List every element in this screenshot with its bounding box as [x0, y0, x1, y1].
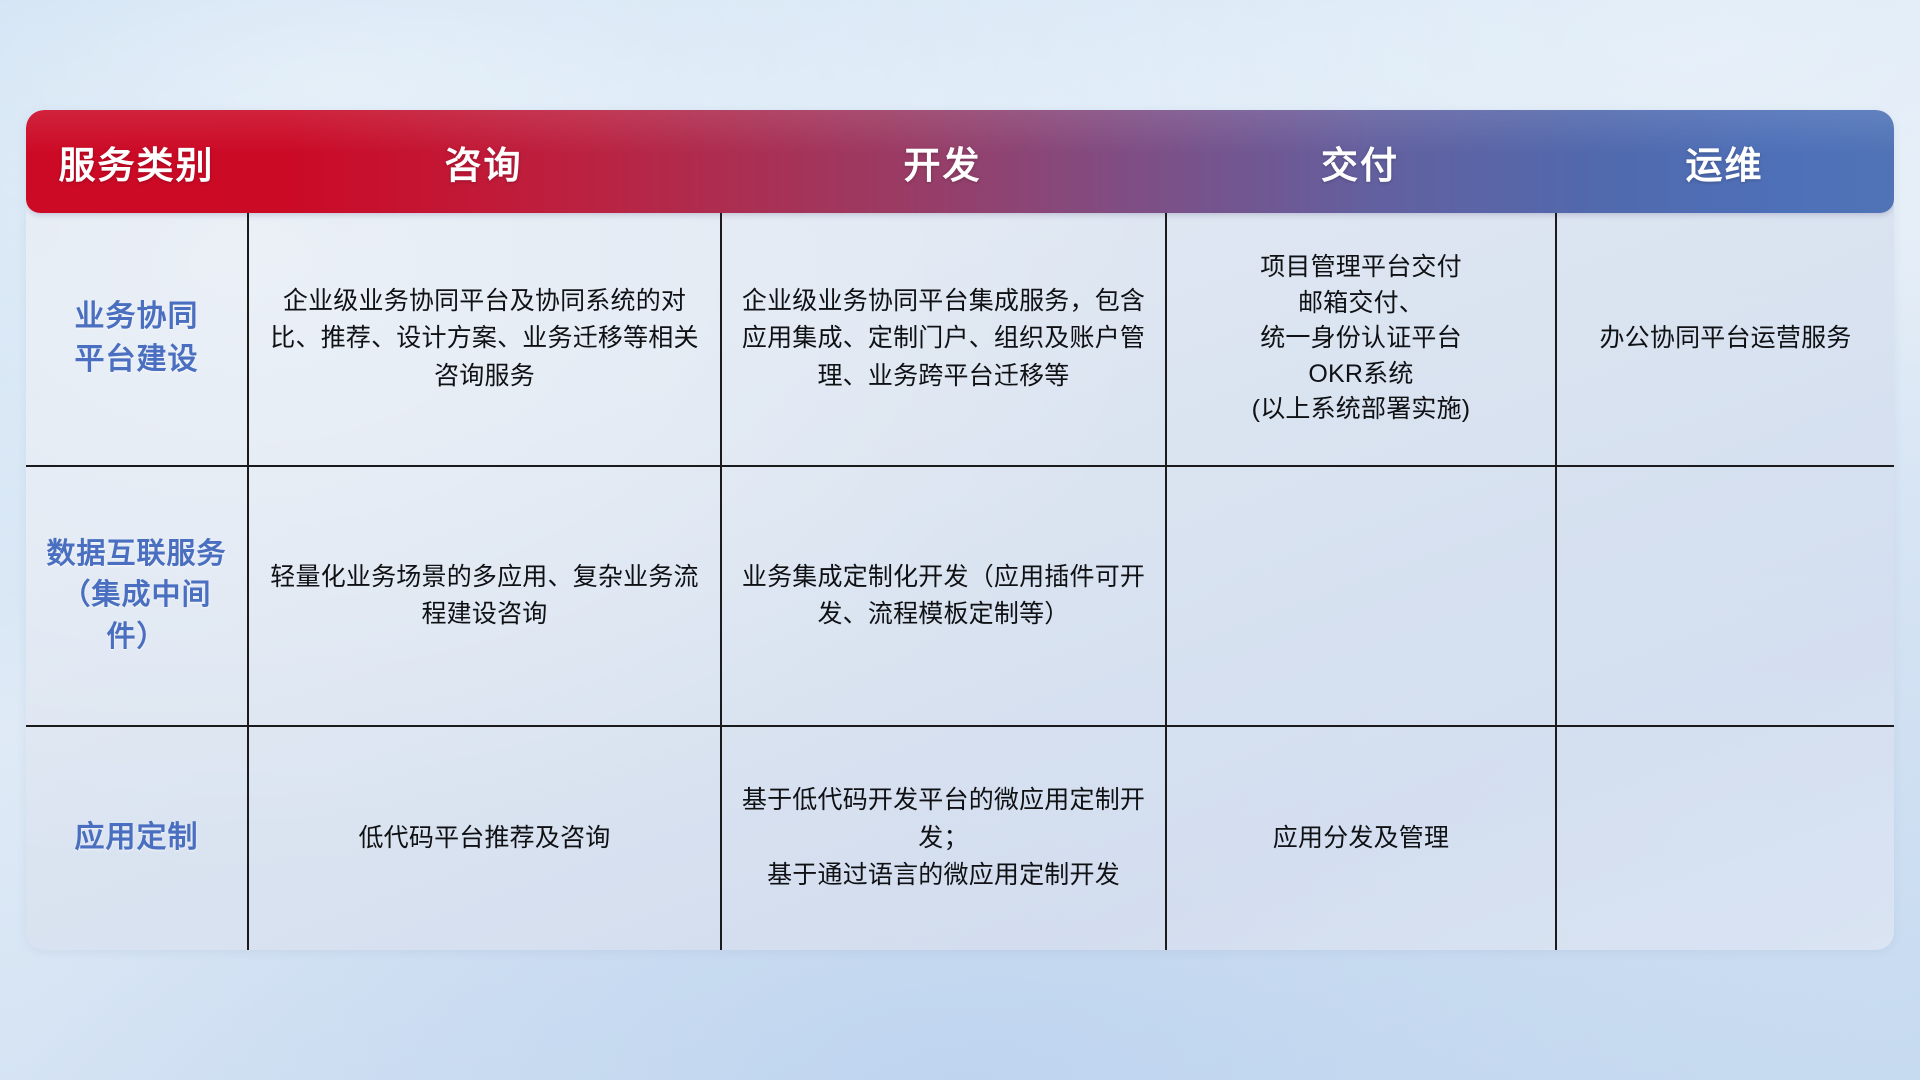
cell-delivery-2 [1165, 465, 1555, 725]
cell-text: 业务集成定制化开发（应用插件可开发、流程模板定制等） [736, 559, 1151, 634]
table-body: 业务协同 平台建设 企业级业务协同平台及协同系统的对比、推荐、设计方案、业务迁移… [26, 213, 1894, 950]
cell-text-line: OKR系统 [1252, 357, 1471, 393]
service-category-table: 服务类别 咨询 开发 交付 运维 业务协同 平台建设 企业级业务协同平台及协同系… [26, 110, 1894, 950]
column-header-category: 服务类别 [26, 110, 247, 213]
row-category-line: 平台建设 [75, 339, 199, 382]
row-category-label-3: 应用定制 [75, 817, 199, 860]
cell-development-2: 业务集成定制化开发（应用插件可开发、流程模板定制等） [720, 465, 1165, 725]
row-category-line: 应用定制 [75, 817, 199, 860]
column-header-operations: 运维 [1555, 110, 1894, 213]
cell-development-1: 企业级业务协同平台集成服务，包含应用集成、定制门户、组织及账户管理、业务跨平台迁… [720, 213, 1165, 465]
cell-consulting-1: 企业级业务协同平台及协同系统的对比、推荐、设计方案、业务迁移等相关咨询服务 [247, 213, 720, 465]
cell-operations-1: 办公协同平台运营服务 [1555, 213, 1894, 465]
cell-text: 基于低代码开发平台的微应用定制开发； 基于通过语言的微应用定制开发 [736, 782, 1151, 895]
cell-text: 应用分发及管理 [1273, 820, 1449, 858]
cell-text-line: 基于通过语言的微应用定制开发 [736, 857, 1151, 895]
column-header-consulting: 咨询 [247, 110, 720, 213]
cell-text: 企业级业务协同平台集成服务，包含应用集成、定制门户、组织及账户管理、业务跨平台迁… [736, 283, 1151, 396]
table-card: 服务类别 咨询 开发 交付 运维 业务协同 平台建设 企业级业务协同平台及协同系… [26, 110, 1894, 950]
table-row: 业务协同 平台建设 [26, 213, 247, 465]
cell-text: 企业级业务协同平台及协同系统的对比、推荐、设计方案、业务迁移等相关咨询服务 [263, 283, 706, 396]
cell-delivery-1: 项目管理平台交付 邮箱交付、 统一身份认证平台 OKR系统 (以上系统部署实施) [1165, 213, 1555, 465]
cell-development-3: 基于低代码开发平台的微应用定制开发； 基于通过语言的微应用定制开发 [720, 725, 1165, 950]
column-header-development: 开发 [720, 110, 1165, 213]
cell-text: 低代码平台推荐及咨询 [358, 820, 610, 858]
cell-text: 办公协同平台运营服务 [1599, 320, 1851, 358]
column-header-delivery: 交付 [1165, 110, 1555, 213]
cell-delivery-3: 应用分发及管理 [1165, 725, 1555, 950]
cell-text-line: 基于低代码开发平台的微应用定制开发； [736, 782, 1151, 857]
table-header-row: 服务类别 咨询 开发 交付 运维 [26, 110, 1894, 213]
table-row: 数据互联服务 （集成中间件） [26, 465, 247, 725]
row-category-label-1: 业务协同 平台建设 [75, 296, 199, 381]
cell-text-line: 统一身份认证平台 [1252, 321, 1471, 357]
row-category-line: 数据互联服务 [40, 534, 233, 575]
cell-text-line: 邮箱交付、 [1252, 286, 1471, 322]
table-row: 应用定制 [26, 725, 247, 950]
row-category-label-2: 数据互联服务 （集成中间件） [40, 534, 233, 658]
cell-text: 项目管理平台交付 邮箱交付、 统一身份认证平台 OKR系统 (以上系统部署实施) [1252, 250, 1471, 428]
cell-text: 轻量化业务场景的多应用、复杂业务流程建设咨询 [263, 559, 706, 634]
cell-text-line: 项目管理平台交付 [1252, 250, 1471, 286]
cell-operations-2 [1555, 465, 1894, 725]
cell-operations-3 [1555, 725, 1894, 950]
row-category-line: （集成中间件） [40, 575, 233, 657]
cell-text-line: (以上系统部署实施) [1252, 392, 1471, 428]
row-category-line: 业务协同 [75, 296, 199, 339]
cell-consulting-2: 轻量化业务场景的多应用、复杂业务流程建设咨询 [247, 465, 720, 725]
cell-consulting-3: 低代码平台推荐及咨询 [247, 725, 720, 950]
